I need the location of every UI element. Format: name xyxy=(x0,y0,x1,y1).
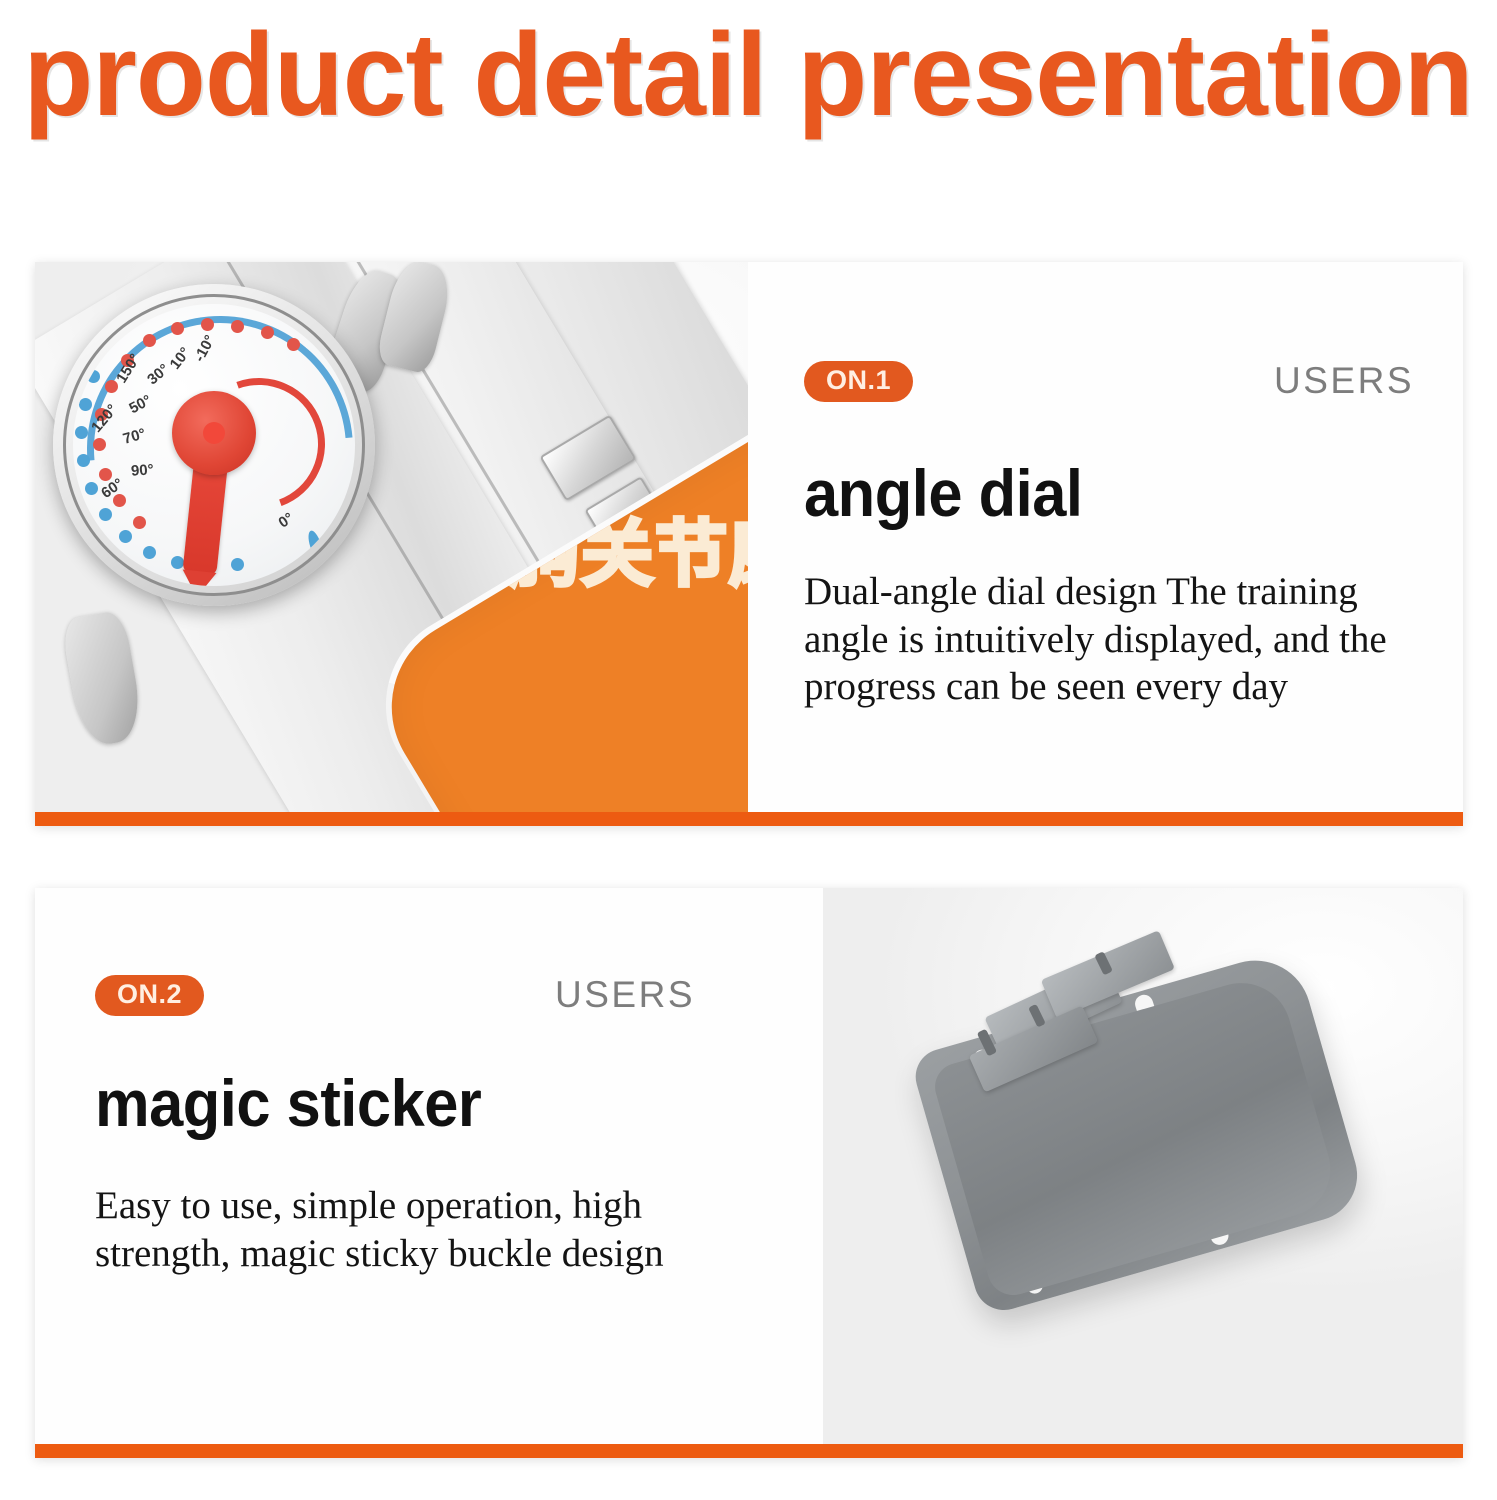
body-text-angle-dial: Dual-angle dial design The training angl… xyxy=(804,568,1404,711)
badge-on-2[interactable]: ON.2 xyxy=(95,975,204,1016)
feature-card-2: ON.2 USERS magic sticker Easy to use, si… xyxy=(35,888,1463,1458)
headline-angle-dial: angle dial xyxy=(804,460,1082,526)
headline-magic-sticker: magic sticker xyxy=(95,1070,481,1136)
body-text-magic-sticker: Easy to use, simple operation, high stre… xyxy=(95,1182,675,1277)
feature-text-1: ON.1 USERS angle dial Dual-angle dial de… xyxy=(748,262,1463,812)
card-accent-bar-1 xyxy=(35,812,1463,826)
feature-head-row-1: ON.1 USERS xyxy=(804,360,1414,402)
card-accent-bar-2 xyxy=(35,1444,1463,1458)
badge-on-1[interactable]: ON.1 xyxy=(804,361,913,402)
angle-dial-gauge: -10° 10° 30° 150° 50° 120° 70° 90° 60° 0… xyxy=(53,284,375,606)
feature-head-row-2: ON.2 USERS xyxy=(95,974,695,1016)
page-title: product detail presentation xyxy=(24,16,1473,134)
feature-text-2: ON.2 USERS magic sticker Easy to use, si… xyxy=(35,888,823,1444)
gauge-face: -10° 10° 30° 150° 50° 120° 70° 90° 60° 0… xyxy=(73,304,355,586)
product-image-angle-dial: 肩胊关节康复器 xyxy=(35,262,748,812)
product-image-magic-sticker xyxy=(823,888,1463,1444)
feature-card-1: 肩胊关节康复器 xyxy=(35,262,1463,826)
users-label-2: USERS xyxy=(555,974,695,1016)
page-title-banner: product detail presentation xyxy=(0,0,1497,150)
gauge-label-90: 90° xyxy=(130,461,154,480)
users-label-1: USERS xyxy=(1274,360,1414,402)
gauge-hub xyxy=(172,391,256,475)
